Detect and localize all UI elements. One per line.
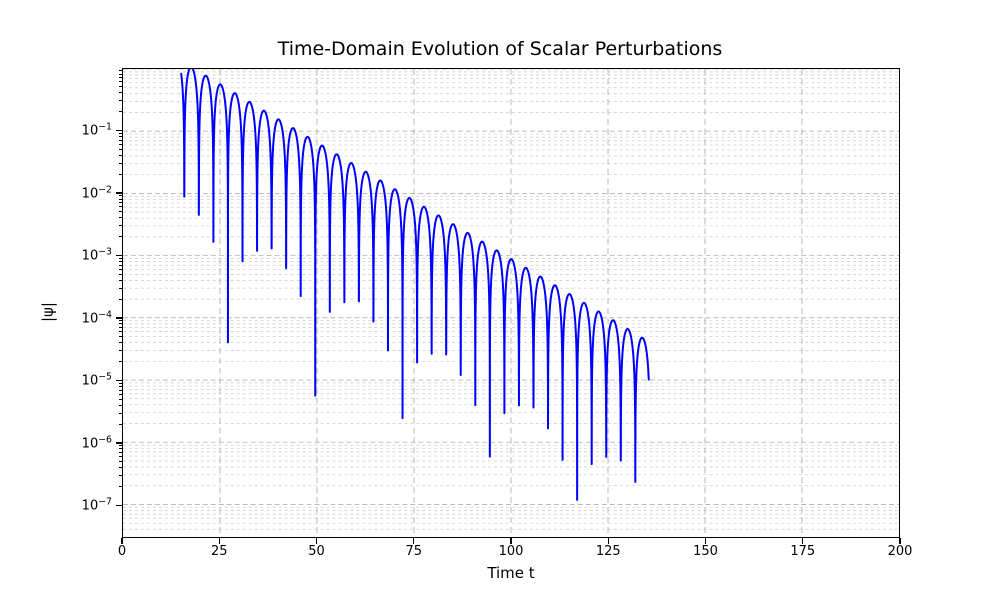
- x-tick-mark: [121, 538, 122, 544]
- y-minor-tick-mark: [119, 261, 123, 262]
- y-tick-label: 10−3: [82, 247, 112, 264]
- figure-canvas: Time-Domain Evolution of Scalar Perturba…: [0, 0, 1000, 600]
- x-tick-label: 50: [308, 544, 325, 559]
- x-tick-mark: [899, 538, 900, 544]
- y-minor-tick-mark: [119, 331, 123, 332]
- y-minor-tick-mark: [119, 405, 123, 406]
- y-minor-tick-mark: [119, 217, 123, 218]
- y-minor-tick-mark: [119, 390, 123, 391]
- y-minor-tick-mark: [119, 211, 123, 212]
- y-minor-tick-mark: [119, 206, 123, 207]
- y-minor-tick-mark: [119, 461, 123, 462]
- x-tick-label: 25: [211, 544, 228, 559]
- y-axis-label: |ψ|: [39, 252, 57, 372]
- x-tick-label: 75: [405, 544, 422, 559]
- y-minor-tick-mark: [119, 133, 123, 134]
- y-minor-tick-mark: [119, 452, 123, 453]
- x-tick-mark: [802, 538, 803, 544]
- y-minor-tick-mark: [119, 299, 123, 300]
- chart-title: Time-Domain Evolution of Scalar Perturba…: [0, 38, 1000, 60]
- x-tick-label: 200: [888, 544, 913, 559]
- y-minor-tick-mark: [119, 361, 123, 362]
- y-minor-tick-mark: [119, 448, 123, 449]
- x-tick-mark: [705, 538, 706, 544]
- x-tick-label: 150: [693, 544, 718, 559]
- y-minor-tick-mark: [119, 202, 123, 203]
- y-tick-label: 10−1: [82, 122, 112, 139]
- y-minor-tick-mark: [119, 456, 123, 457]
- y-minor-tick-mark: [119, 323, 123, 324]
- y-minor-tick-mark: [119, 136, 123, 137]
- x-tick-mark: [219, 538, 220, 544]
- y-minor-tick-mark: [119, 327, 123, 328]
- y-minor-tick-mark: [119, 195, 123, 196]
- y-minor-tick-mark: [119, 174, 123, 175]
- y-tick-label: 10−7: [82, 497, 112, 514]
- x-tick-mark: [316, 538, 317, 544]
- y-minor-tick-mark: [119, 342, 123, 343]
- y-minor-tick-mark: [119, 383, 123, 384]
- x-tick-mark: [608, 538, 609, 544]
- y-minor-tick-mark: [119, 280, 123, 281]
- y-minor-tick-mark: [119, 199, 123, 200]
- y-minor-tick-mark: [119, 225, 123, 226]
- y-minor-tick-mark: [119, 86, 123, 87]
- y-minor-tick-mark: [119, 386, 123, 387]
- x-tick-label: 175: [790, 544, 815, 559]
- y-minor-tick-mark: [119, 140, 123, 141]
- y-minor-tick-mark: [119, 475, 123, 476]
- y-tick-mark: [116, 380, 122, 381]
- y-minor-tick-mark: [119, 149, 123, 150]
- y-minor-tick-mark: [119, 424, 123, 425]
- y-minor-tick-mark: [119, 394, 123, 395]
- x-tick-label: 125: [596, 544, 621, 559]
- y-minor-tick-mark: [119, 350, 123, 351]
- y-tick-mark: [116, 442, 122, 443]
- y-tick-mark: [116, 130, 122, 131]
- y-minor-tick-mark: [119, 144, 123, 145]
- y-minor-tick-mark: [119, 77, 123, 78]
- y-tick-label: 10−2: [82, 184, 112, 201]
- plot-area: [122, 68, 900, 538]
- y-minor-tick-mark: [119, 399, 123, 400]
- y-minor-tick-mark: [119, 467, 123, 468]
- x-tick-mark: [510, 538, 511, 544]
- y-tick-mark: [116, 255, 122, 256]
- x-tick-label: 0: [118, 544, 126, 559]
- y-minor-tick-mark: [119, 274, 123, 275]
- y-minor-tick-mark: [119, 336, 123, 337]
- x-tick-label: 100: [499, 544, 524, 559]
- y-minor-tick-mark: [119, 288, 123, 289]
- y-tick-mark: [116, 317, 122, 318]
- y-tick-mark: [116, 505, 122, 506]
- x-axis-label: Time t: [122, 564, 900, 582]
- y-minor-tick-mark: [119, 100, 123, 101]
- y-minor-tick-mark: [119, 111, 123, 112]
- y-minor-tick-mark: [119, 92, 123, 93]
- y-minor-tick-mark: [119, 413, 123, 414]
- y-minor-tick-mark: [119, 70, 123, 71]
- y-minor-tick-mark: [119, 81, 123, 82]
- y-minor-tick-mark: [119, 265, 123, 266]
- data-curve: [123, 69, 899, 537]
- y-minor-tick-mark: [119, 320, 123, 321]
- y-minor-tick-mark: [119, 236, 123, 237]
- y-tick-mark: [116, 192, 122, 193]
- y-minor-tick-mark: [119, 269, 123, 270]
- y-tick-label: 10−6: [82, 434, 112, 451]
- y-minor-tick-mark: [119, 486, 123, 487]
- y-minor-tick-mark: [119, 445, 123, 446]
- y-minor-tick-mark: [119, 163, 123, 164]
- y-tick-label: 10−5: [82, 372, 112, 389]
- y-minor-tick-mark: [119, 258, 123, 259]
- x-tick-mark: [413, 538, 414, 544]
- y-minor-tick-mark: [119, 155, 123, 156]
- y-minor-tick-mark: [119, 74, 123, 75]
- y-tick-label: 10−4: [82, 309, 112, 326]
